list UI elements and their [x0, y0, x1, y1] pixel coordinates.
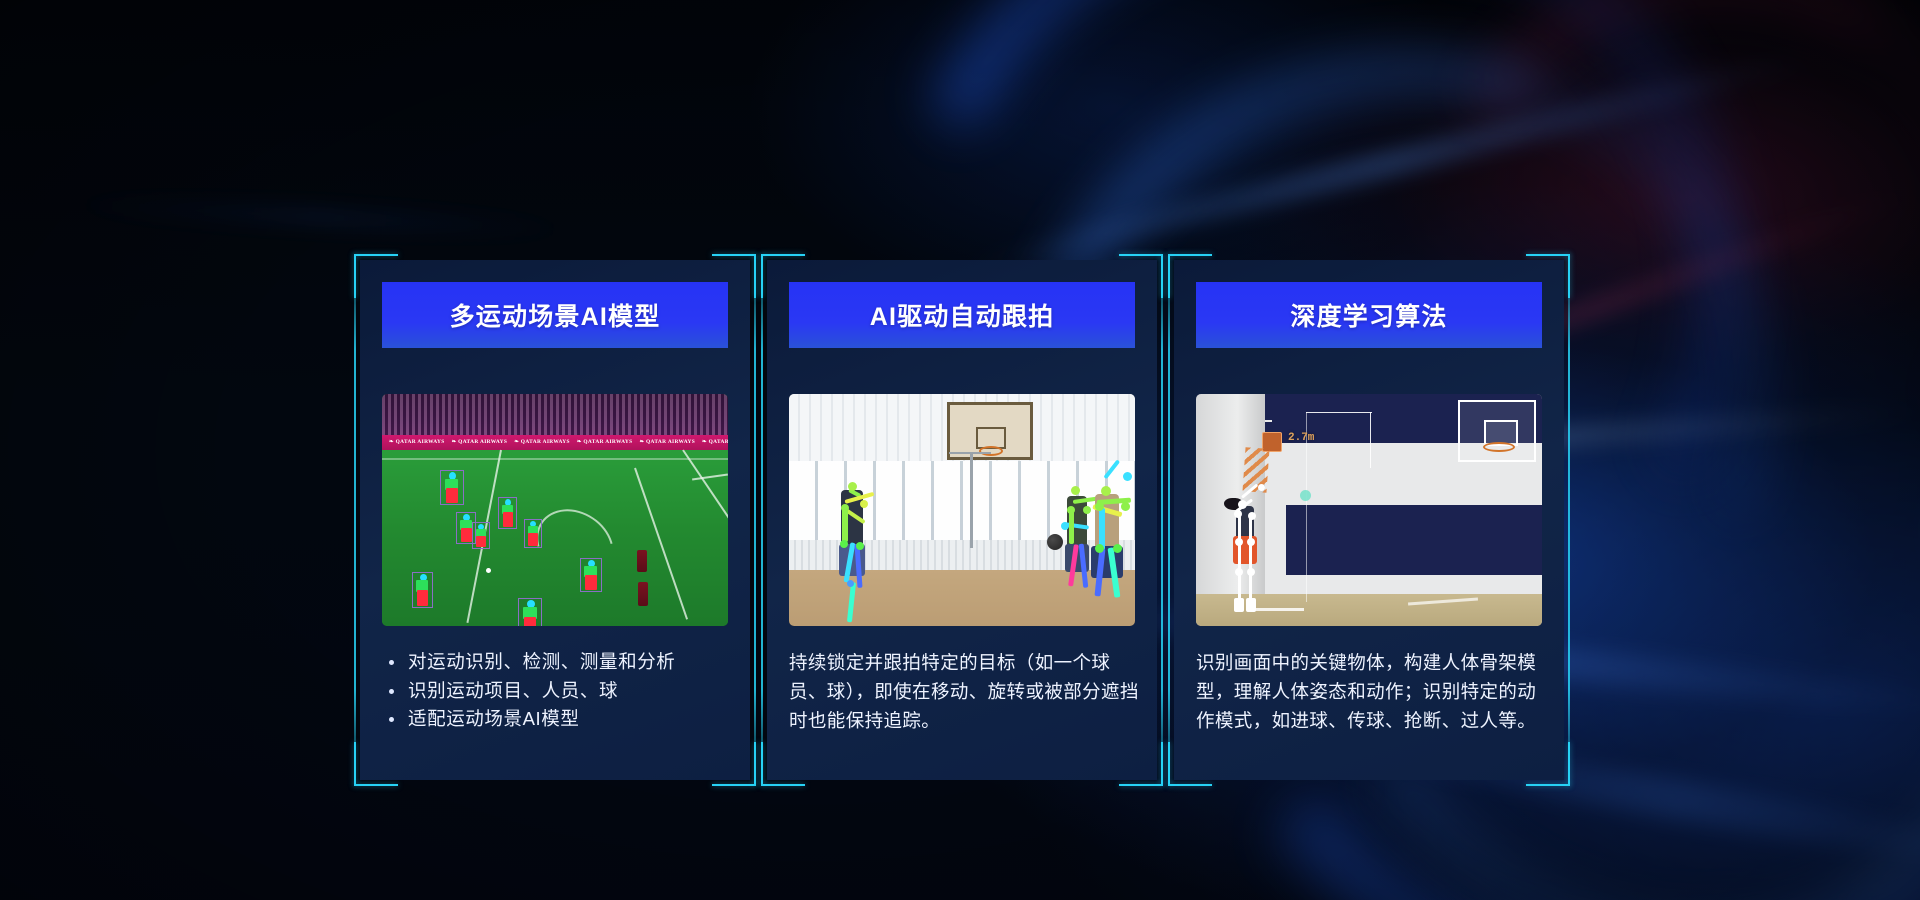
feature-card-3[interactable]: 深度学习算法	[1174, 260, 1564, 780]
hoop-pole	[970, 454, 973, 548]
detection-box	[524, 519, 542, 548]
card-body-text: 对运动识别、检测、测量和分析 识别运动项目、人员、球 适配运动场景AI模型	[382, 648, 732, 734]
ad-board-text: ❧ QATAR AIRWAYS	[507, 439, 570, 445]
card-body-text: 持续锁定并跟拍特定的目标（如一个球员、球），即使在移动、旋转或被部分遮挡时也能保…	[789, 648, 1139, 735]
basketball-icon	[1047, 534, 1063, 550]
player-skeleton	[829, 482, 875, 626]
basketball-gym-thumbnail	[789, 394, 1135, 626]
trajectory-guide	[1370, 412, 1371, 468]
feature-bullet-list: 对运动识别、检测、测量和分析 识别运动项目、人员、球 适配运动场景AI模型	[382, 648, 732, 734]
detection-box	[518, 598, 542, 626]
list-item: 识别运动项目、人员、球	[382, 677, 732, 706]
trajectory-guide	[1306, 412, 1372, 413]
gym-wall-pad	[1286, 505, 1542, 575]
card-body: 多运动场景AI模型 ❧ QATAR AIRWAYS❧ QATAR AIRWAYS…	[360, 260, 750, 780]
hoop-brace	[949, 452, 991, 454]
card-rail-right	[1568, 254, 1570, 786]
card-paragraph: 识别画面中的关键物体，构建人体骨架模型，理解人体姿态和动作；识别特定的动作模式，…	[1196, 648, 1546, 735]
player-skeleton	[1222, 492, 1268, 620]
advertising-board: ❧ QATAR AIRWAYS❧ QATAR AIRWAYS❧ QATAR AI…	[382, 435, 728, 450]
card-title: AI驱动自动跟拍	[870, 297, 1055, 333]
feature-card-row: 多运动场景AI模型 ❧ QATAR AIRWAYS❧ QATAR AIRWAYS…	[0, 0, 1920, 900]
ad-board-text: ❧ QATAR AIRWAYS	[632, 439, 695, 445]
card-rail-left	[354, 254, 356, 786]
card-paragraph: 持续锁定并跟拍特定的目标（如一个球员、球），即使在移动、旋转或被部分遮挡时也能保…	[789, 648, 1139, 735]
card-title-bar: AI驱动自动跟拍	[789, 282, 1135, 348]
basketball-rim-icon	[979, 446, 1003, 456]
soccer-pitch	[382, 450, 728, 626]
ad-board-text: ❧ QATAR AIRWAYS	[695, 439, 728, 445]
basketball-rim-icon	[1483, 442, 1515, 452]
player-skeleton	[1081, 472, 1133, 624]
soccer-detection-thumbnail: ❧ QATAR AIRWAYS❧ QATAR AIRWAYS❧ QATAR AI…	[382, 394, 728, 626]
ad-board-text: ❧ QATAR AIRWAYS	[570, 439, 633, 445]
card-rail-left	[1168, 254, 1170, 786]
feature-card-1[interactable]: 多运动场景AI模型 ❧ QATAR AIRWAYS❧ QATAR AIRWAYS…	[360, 260, 750, 780]
card-body-text: 识别画面中的关键物体，构建人体骨架模型，理解人体姿态和动作；识别特定的动作模式，…	[1196, 648, 1546, 735]
card-rail-right	[754, 254, 756, 786]
card-title: 多运动场景AI模型	[450, 297, 661, 333]
detection-box	[440, 470, 464, 505]
list-item: 适配运动场景AI模型	[382, 705, 732, 734]
card-body: 深度学习算法	[1174, 260, 1564, 780]
card-body: AI驱动自动跟拍	[767, 260, 1157, 780]
detection-box	[472, 522, 490, 549]
distance-label: 2.7m	[1288, 432, 1314, 444]
feature-card-2[interactable]: AI驱动自动跟拍	[767, 260, 1157, 780]
card-rail-right	[1161, 254, 1163, 786]
card-rail-left	[761, 254, 763, 786]
detection-box	[580, 558, 602, 592]
card-title: 深度学习算法	[1290, 297, 1447, 333]
list-item: 对运动识别、检测、测量和分析	[382, 648, 732, 677]
card-title-bar: 多运动场景AI模型	[382, 282, 728, 348]
stadium-crowd	[382, 394, 728, 438]
detection-box	[412, 572, 433, 608]
ad-board-text: ❧ QATAR AIRWAYS	[382, 439, 445, 445]
ad-board-text: ❧ QATAR AIRWAYS	[445, 439, 508, 445]
card-title-bar: 深度学习算法	[1196, 282, 1542, 348]
detection-box	[498, 497, 517, 529]
court-marker-icon	[1300, 490, 1311, 501]
shot-tracking-thumbnail: 2.7m	[1196, 394, 1542, 626]
